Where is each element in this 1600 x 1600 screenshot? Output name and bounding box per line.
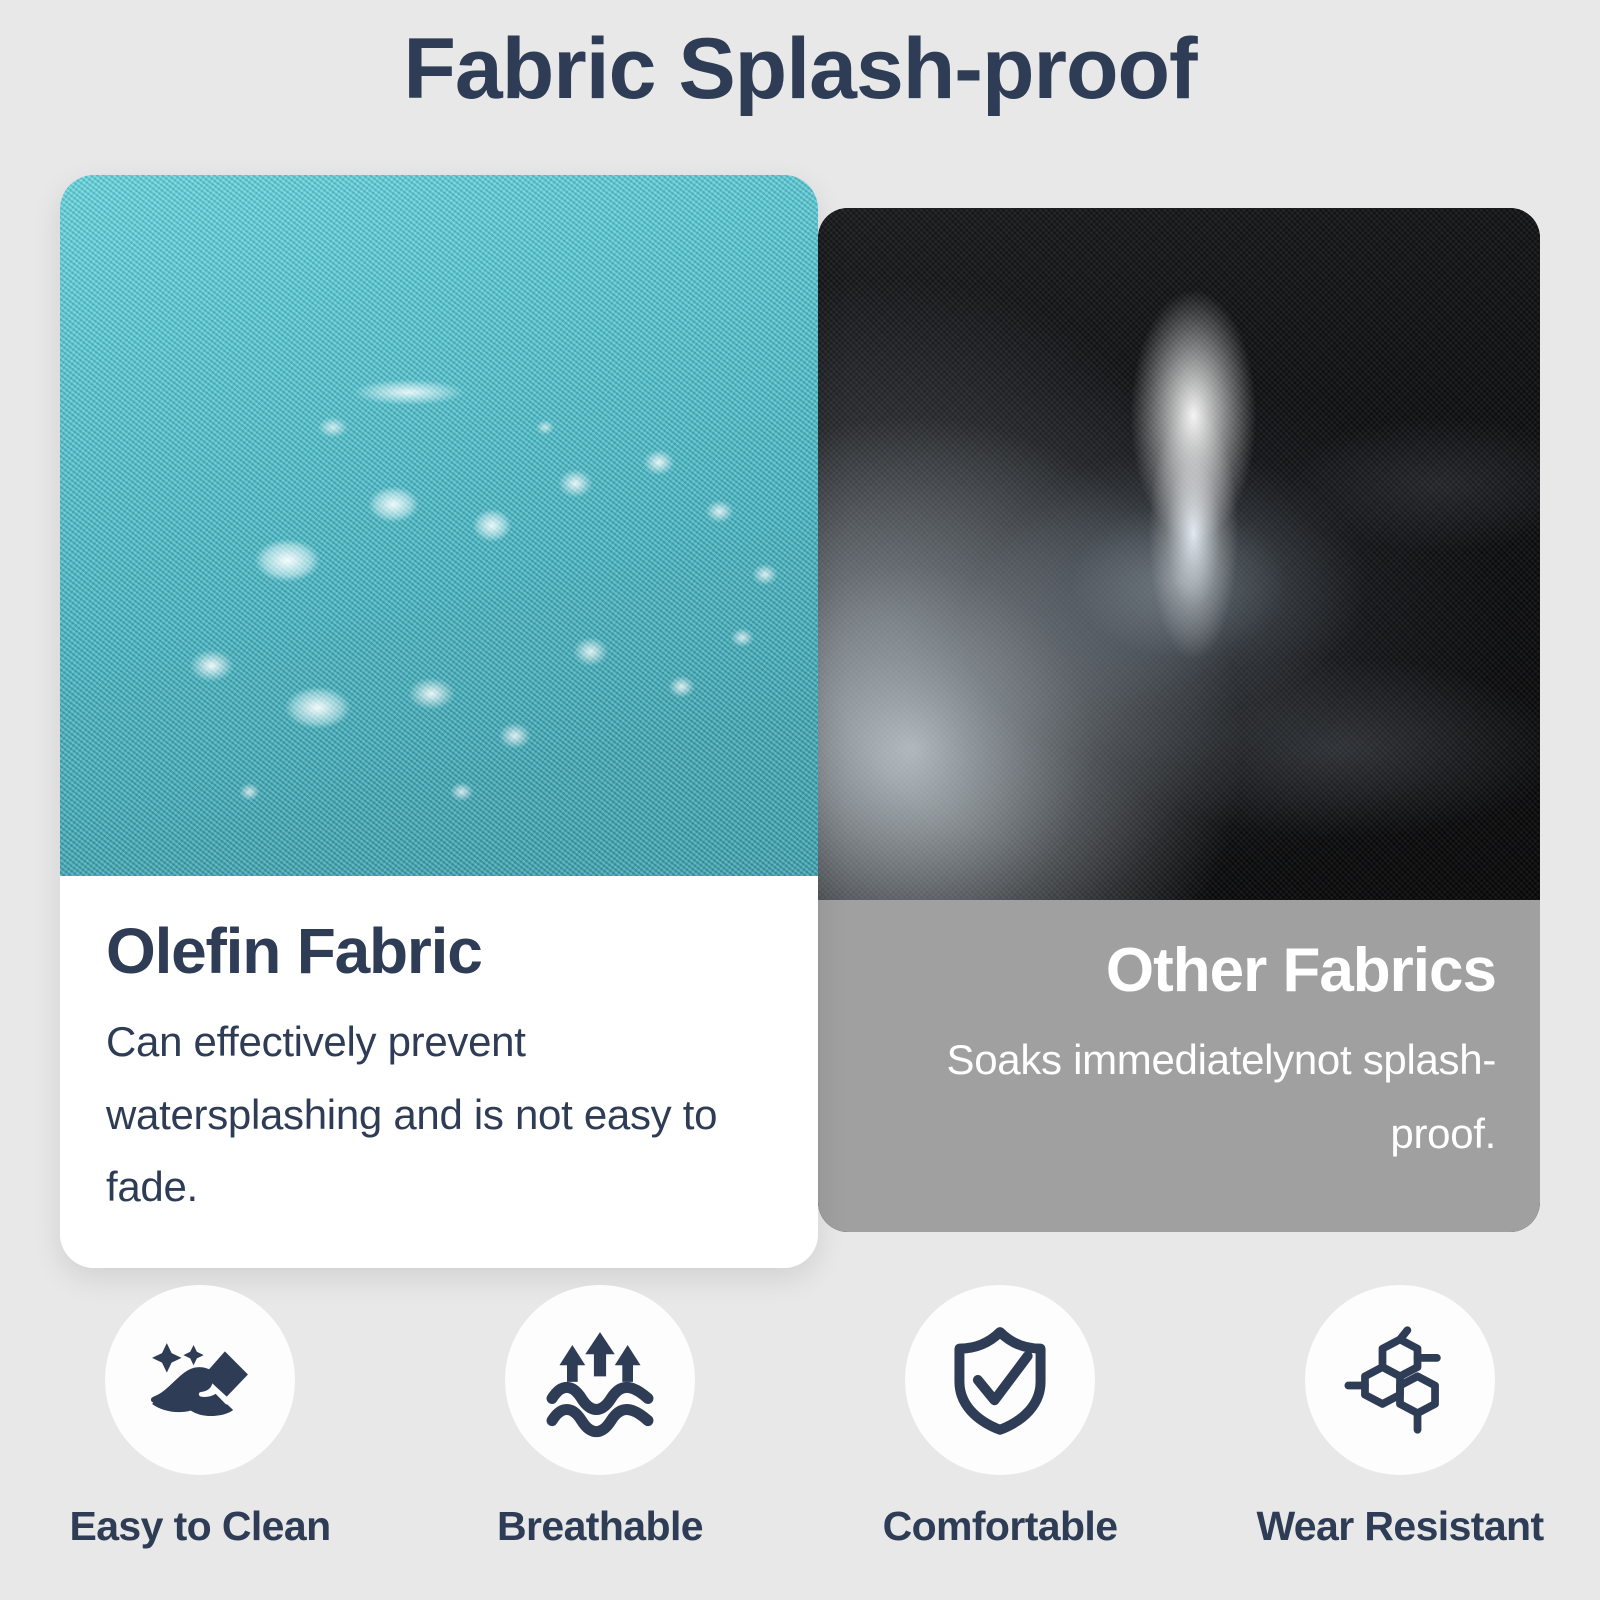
feature-icon-badge (1305, 1285, 1495, 1475)
other-fabrics-text-panel: Other Fabrics Soaks immediatelynot splas… (818, 900, 1540, 1232)
feature-comfortable: Comfortable (800, 1285, 1200, 1600)
feature-icon-badge (905, 1285, 1095, 1475)
hand-wiping-sparkle-icon (141, 1321, 259, 1439)
other-fabrics-photo (818, 208, 1540, 900)
feature-label: Breathable (497, 1503, 703, 1550)
shield-check-icon (941, 1321, 1059, 1439)
molecule-hexagons-icon (1341, 1321, 1459, 1439)
feature-wear-resistant: Wear Resistant (1200, 1285, 1600, 1600)
olefin-fabric-photo (60, 175, 818, 876)
feature-breathable: Breathable (400, 1285, 800, 1600)
page-title: Fabric Splash-proof (0, 22, 1600, 117)
other-fabrics-description: Soaks immediatelynot splash-proof. (862, 1023, 1496, 1170)
comparison-card-olefin-fabric: Olefin Fabric Can effectively prevent wa… (60, 175, 818, 1268)
olefin-fabric-text-panel: Olefin Fabric Can effectively prevent wa… (60, 876, 818, 1268)
olefin-fabric-description: Can effectively prevent watersplashing a… (106, 1006, 772, 1223)
feature-label: Easy to Clean (69, 1503, 330, 1550)
feature-easy-to-clean: Easy to Clean (0, 1285, 400, 1600)
feature-icon-badge (105, 1285, 295, 1475)
other-fabrics-title: Other Fabrics (862, 936, 1496, 1005)
arrows-over-waves-icon (541, 1321, 659, 1439)
olefin-fabric-title: Olefin Fabric (106, 916, 772, 986)
feature-icon-badge (505, 1285, 695, 1475)
feature-label: Comfortable (883, 1503, 1118, 1550)
infographic-page: Fabric Splash-proof Other Fabrics Soaks … (0, 0, 1600, 1600)
feature-row: Easy to Clean Breathable (0, 1285, 1600, 1600)
feature-label: Wear Resistant (1256, 1503, 1543, 1550)
comparison-card-other-fabrics: Other Fabrics Soaks immediatelynot splas… (818, 208, 1540, 1232)
